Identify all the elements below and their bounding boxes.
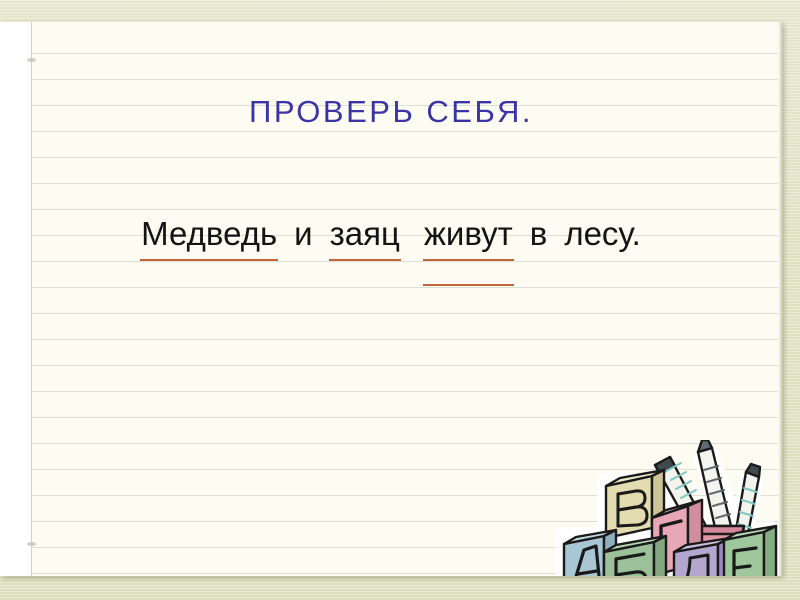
sentence-word-object: лесу. bbox=[564, 215, 640, 253]
sentence-word-conjunction: и bbox=[294, 215, 312, 253]
exercise-sentence: Медведьизаяцживутвлесу. bbox=[0, 215, 782, 253]
slide-root: ПРОВЕРЬ СЕБЯ. Медведьизаяцживутвлесу. bbox=[0, 0, 800, 600]
gutter-cap-bottom bbox=[27, 542, 36, 546]
page-title: ПРОВЕРЬ СЕБЯ. bbox=[0, 94, 782, 130]
sentence-word-subject-1: Медведь bbox=[141, 215, 277, 253]
notebook-page: ПРОВЕРЬ СЕБЯ. Медведьизаяцживутвлесу. bbox=[0, 22, 782, 576]
sentence-word-preposition: в bbox=[530, 215, 548, 253]
sentence-word-subject-2: заяц bbox=[330, 215, 400, 253]
gutter-cap-top bbox=[27, 58, 36, 62]
sentence-word-predicate: живут bbox=[424, 215, 513, 253]
alphabet-blocks-and-pencils-icon bbox=[548, 440, 782, 576]
